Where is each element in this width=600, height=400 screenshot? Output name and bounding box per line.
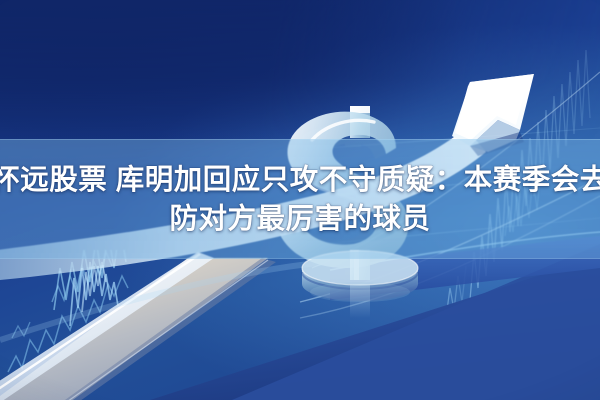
news-banner: 怀远股票 库明加回应只攻不守质疑：本赛季会去 防对方最厉害的球员: [0, 0, 600, 400]
caption-line-1: 怀远股票 库明加回应只攻不守质疑：本赛季会去: [0, 163, 600, 197]
caption: 怀远股票 库明加回应只攻不守质疑：本赛季会去 防对方最厉害的球员: [0, 139, 600, 259]
background-top-shade: [0, 0, 600, 150]
caption-line-2: 防对方最厉害的球员: [169, 202, 430, 236]
